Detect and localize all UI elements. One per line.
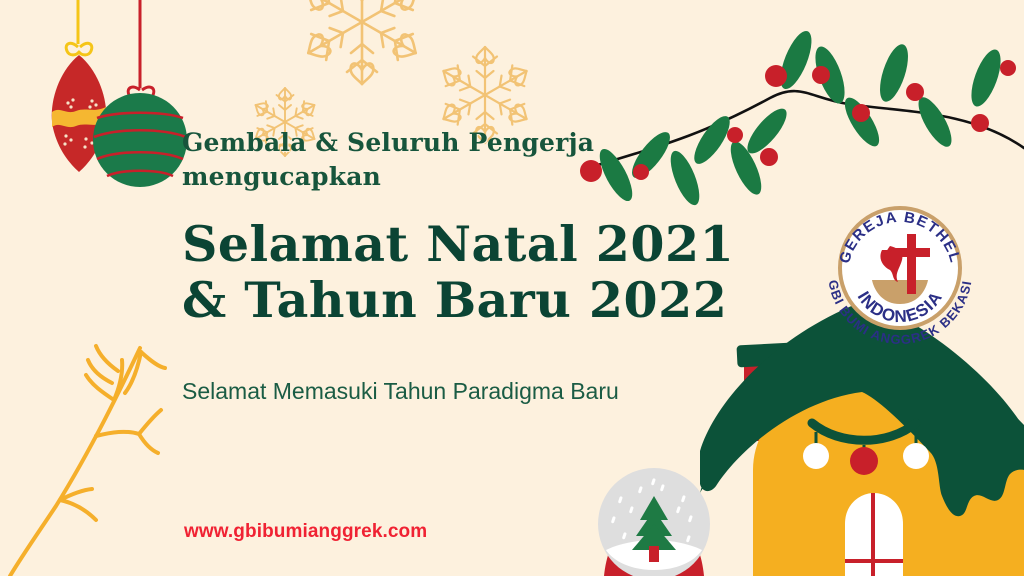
snow-globe bbox=[598, 468, 710, 576]
greeting-headline: Selamat Natal 2021 & Tahun Baru 2022 bbox=[182, 194, 802, 328]
greeting-headline-line1: Selamat Natal 2021 bbox=[182, 215, 734, 273]
house-door bbox=[845, 493, 903, 576]
greeting-subtitle: Selamat Memasuki Tahun Paradigma Baru bbox=[182, 328, 802, 406]
christmas-greeting-card: GEREJA BETHEL INDONESIA GBI BUMI ANGGREK… bbox=[0, 0, 1024, 576]
twig-branch bbox=[10, 346, 165, 576]
greeting-eyebrow-line2: mengucapkan bbox=[182, 162, 381, 191]
greeting-eyebrow: Gembala & Seluruh Pengerja mengucapkan bbox=[182, 126, 802, 194]
gbi-logo: GEREJA BETHEL INDONESIA GBI BUMI ANGGREK… bbox=[820, 188, 980, 348]
greeting-headline-line2: & Tahun Baru 2022 bbox=[182, 271, 727, 329]
greeting-text-block: Gembala & Seluruh Pengerja mengucapkan S… bbox=[182, 126, 802, 406]
ornament-round-green bbox=[93, 0, 187, 187]
website-link[interactable]: www.gbibumianggrek.com bbox=[184, 521, 427, 543]
snowflake-large bbox=[301, 0, 423, 84]
greeting-eyebrow-line1: Gembala & Seluruh Pengerja bbox=[182, 128, 594, 157]
